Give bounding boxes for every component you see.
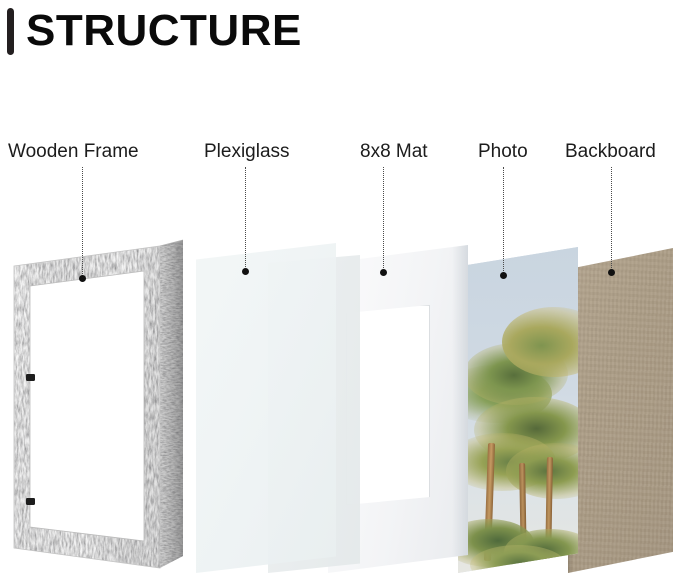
exploded-diagram bbox=[0, 0, 679, 573]
frame-clip-upper bbox=[26, 374, 35, 381]
layer-wooden-frame bbox=[8, 238, 198, 573]
leader-line-wooden-frame bbox=[82, 167, 84, 278]
leader-dot-backboard bbox=[608, 269, 615, 276]
mat-edge-shading bbox=[452, 245, 468, 573]
backboard-grain-texture bbox=[568, 248, 673, 573]
leader-dot-wooden-frame bbox=[79, 275, 86, 282]
leader-line-plexiglass bbox=[245, 167, 247, 271]
leader-dot-plexiglass bbox=[242, 268, 249, 275]
leader-dot-photo bbox=[500, 272, 507, 279]
leader-dot-mat bbox=[380, 269, 387, 276]
leader-line-mat bbox=[383, 167, 385, 272]
frame-depth-face bbox=[160, 240, 183, 568]
frame-clip-lower bbox=[26, 498, 35, 505]
leader-line-photo bbox=[503, 167, 505, 275]
layer-backboard bbox=[568, 248, 673, 573]
leader-line-backboard bbox=[611, 167, 613, 272]
layer-plexiglass bbox=[196, 243, 336, 573]
photo-image bbox=[458, 247, 578, 573]
layer-photo bbox=[458, 247, 578, 573]
wooden-frame-illustration bbox=[8, 238, 198, 573]
